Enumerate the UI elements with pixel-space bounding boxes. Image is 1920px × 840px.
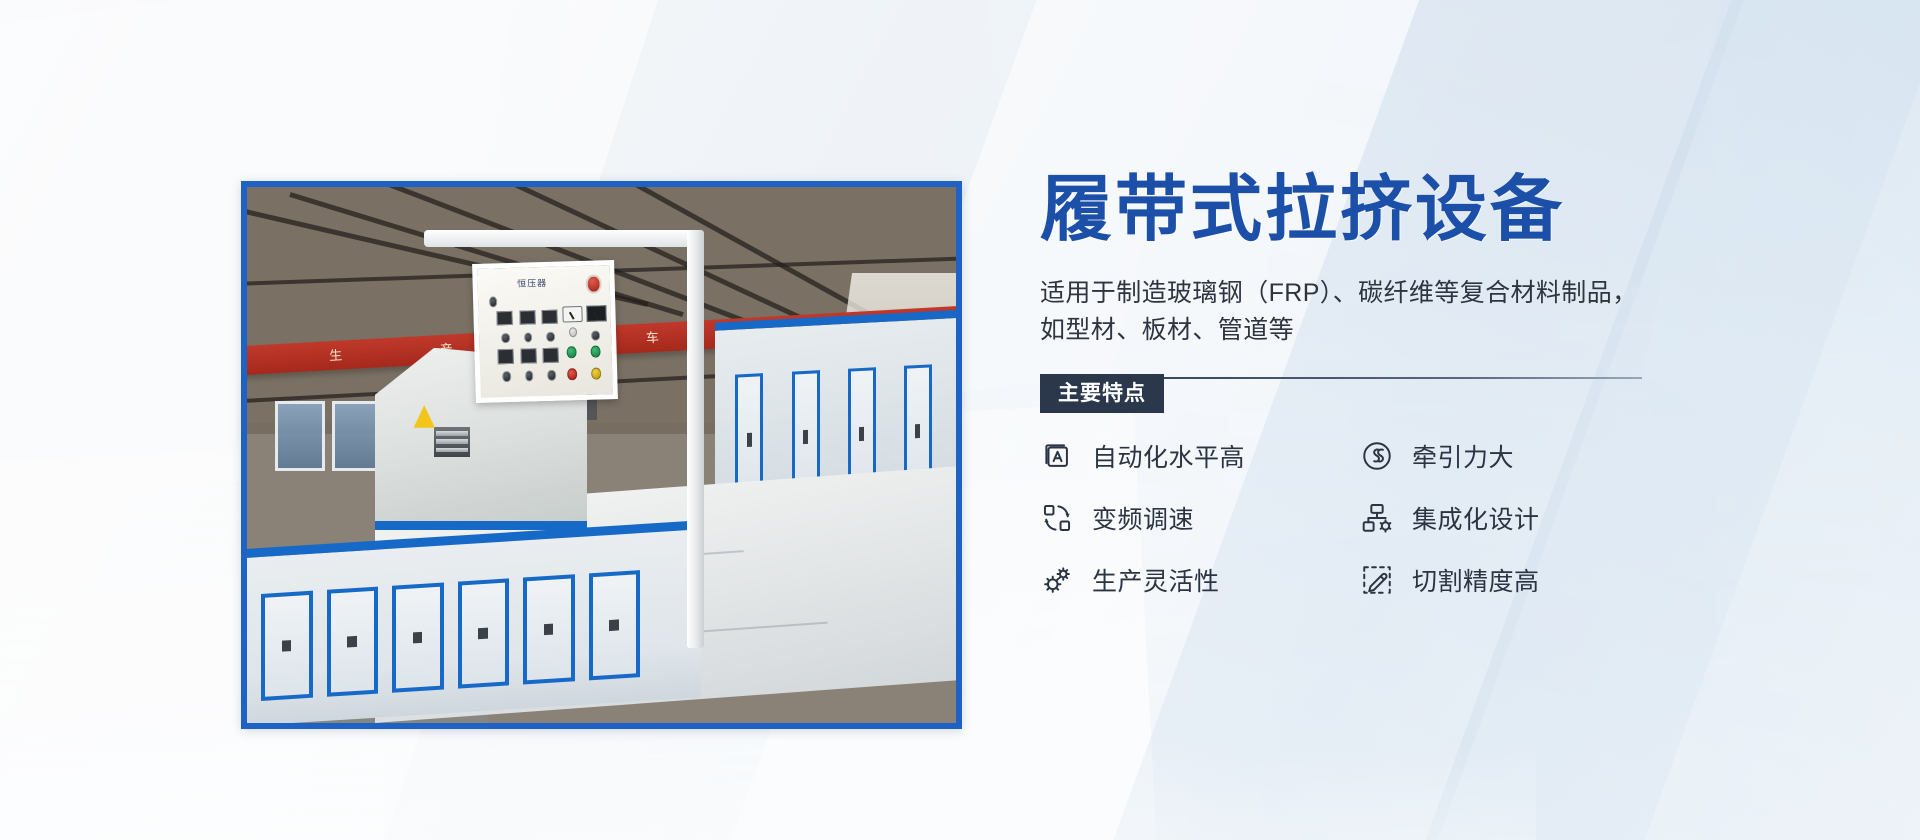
product-photo-card[interactable]: 生产 3t 车间吊: [241, 181, 962, 729]
frequency-speed-icon: [1040, 501, 1074, 535]
product-photo: 生产 3t 车间吊: [247, 187, 956, 723]
feature-label: 牵引力大: [1412, 438, 1514, 474]
product-hero-banner: 生产 3t 车间吊: [0, 0, 1920, 840]
feature-item-integrated-design[interactable]: 集成化设计: [1360, 500, 1680, 536]
integrated-design-icon: [1360, 501, 1394, 535]
feature-label: 切割精度高: [1412, 562, 1540, 598]
photo-control-panel: 恒压器: [472, 260, 618, 403]
section-divider-row: 主要特点: [1040, 374, 1700, 414]
feature-item-production-flexibility[interactable]: 生产灵活性: [1040, 562, 1360, 598]
main-features-tag: 主要特点: [1040, 374, 1164, 413]
hero-content: 履带式拉挤设备 适用于制造玻璃钢（FRP）、碳纤维等复合材料制品，如型材、板材、…: [1040, 170, 1700, 598]
traction-circle-icon: [1360, 439, 1394, 473]
feature-item-cutting-precision[interactable]: 切割精度高: [1360, 562, 1680, 598]
feature-label: 生产灵活性: [1092, 562, 1220, 598]
feature-item-automation[interactable]: 自动化水平高: [1040, 438, 1360, 474]
photo-machine-cabinets: [247, 521, 701, 723]
gears-flexibility-icon: [1040, 563, 1074, 597]
hero-subtitle: 适用于制造玻璃钢（FRP）、碳纤维等复合材料制品，如型材、板材、管道等: [1040, 275, 1652, 350]
feature-label: 集成化设计: [1412, 500, 1540, 536]
feature-list: 自动化水平高 牵引力大: [1040, 438, 1700, 598]
automation-square-a-icon: [1040, 439, 1074, 473]
page-title: 履带式拉挤设备: [1040, 170, 1700, 251]
feature-item-frequency-speed[interactable]: 变频调速: [1040, 500, 1360, 536]
feature-item-traction[interactable]: 牵引力大: [1360, 438, 1680, 474]
feature-label: 自动化水平高: [1092, 438, 1245, 474]
feature-label: 变频调速: [1092, 500, 1194, 536]
cut-precision-pen-icon: [1360, 563, 1394, 597]
